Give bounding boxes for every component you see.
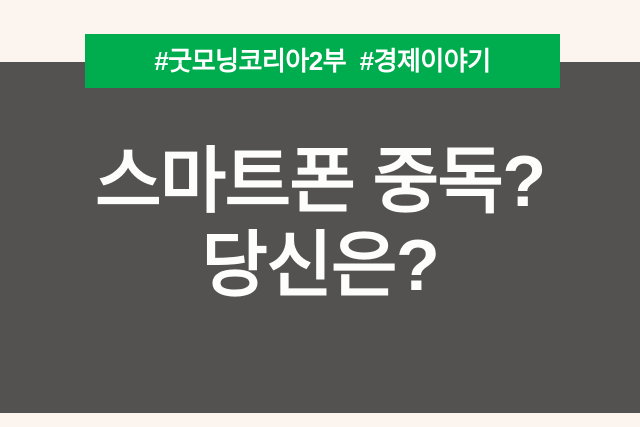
headline-block: 스마트폰 중독? 당신은? (0, 140, 640, 308)
bottom-cream-strip (0, 413, 640, 427)
headline-line-2: 당신은? (0, 224, 640, 308)
hashtag-banner: #굿모닝코리아2부 #경제이야기 (85, 34, 560, 88)
hashtag-banner-text: #굿모닝코리아2부 #경제이야기 (154, 48, 490, 74)
headline-line-1: 스마트폰 중독? (0, 140, 640, 224)
promo-card: #굿모닝코리아2부 #경제이야기 스마트폰 중독? 당신은? (0, 0, 640, 427)
